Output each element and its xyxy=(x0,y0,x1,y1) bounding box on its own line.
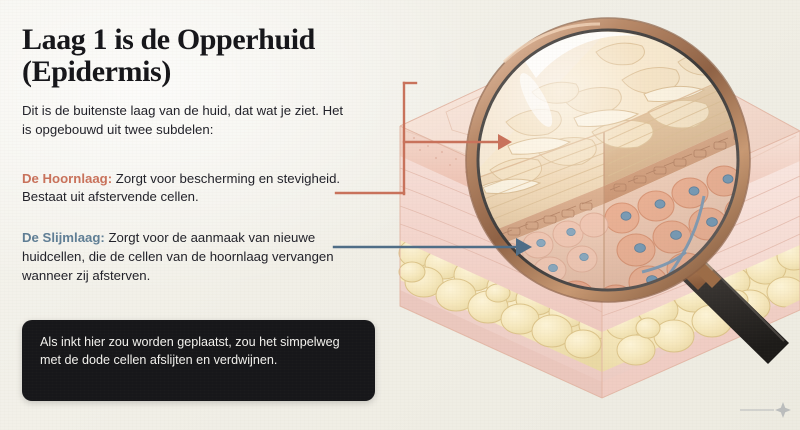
ink-callout-box: Als inkt hier zou worden geplaatst, zou … xyxy=(22,320,375,401)
page-title: Laag 1 is de Opperhuid (Epidermis) xyxy=(22,24,382,88)
intro-paragraph: Dit is de buitenste laag van de huid, da… xyxy=(22,102,352,139)
subdeel-slijmlaag: De Slijmlaag: Zorgt voor de aanmaak van … xyxy=(22,229,347,285)
subdeel-hoornlaag: De Hoornlaag: Zorgt voor bescherming en … xyxy=(22,170,347,207)
text-column: Laag 1 is de Opperhuid (Epidermis) Dit i… xyxy=(22,24,382,299)
subdeel-hoornlaag-label: De Hoornlaag: xyxy=(22,171,112,186)
footer-sparkle xyxy=(740,402,792,418)
sparkle-icon xyxy=(775,402,791,418)
subdeel-slijmlaag-label: De Slijmlaag: xyxy=(22,230,105,245)
slide-root: Laag 1 is de Opperhuid (Epidermis) Dit i… xyxy=(0,0,800,430)
skin-illustration-svg xyxy=(386,0,800,430)
ink-callout-text: Als inkt hier zou worden geplaatst, zou … xyxy=(40,333,357,369)
skin-illustration xyxy=(386,0,800,430)
